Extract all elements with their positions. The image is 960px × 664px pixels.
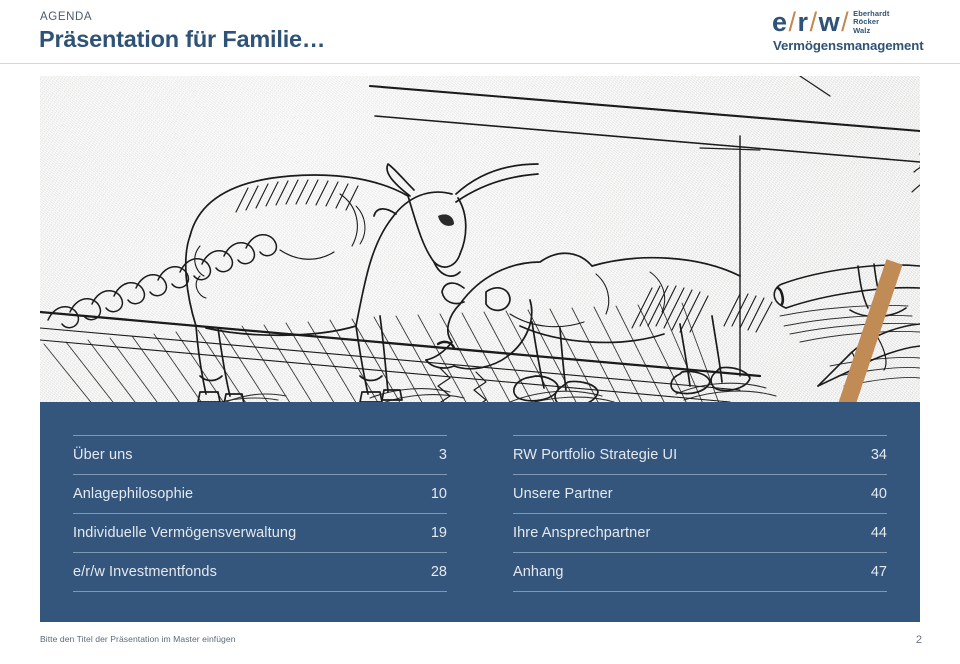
logo-letter-e: e xyxy=(772,7,788,37)
agenda-item-label: e/r/w Investmentfonds xyxy=(73,564,217,580)
agenda-item-label: Anhang xyxy=(513,564,564,580)
agenda-item-anlagephilosophie[interactable]: Anlagephilosophie 10 xyxy=(73,474,447,513)
agenda-column-left: Über uns 3 Anlagephilosophie 10 Individu… xyxy=(40,402,480,622)
agenda-item-label: Anlagephilosophie xyxy=(73,486,193,502)
footer-page-number: 2 xyxy=(916,634,922,646)
agenda-item-label: Individuelle Vermögensverwaltung xyxy=(73,525,296,541)
agenda-item-rw-portfolio-strategie-ui[interactable]: RW Portfolio Strategie UI 34 xyxy=(513,435,887,474)
agenda-column-right: RW Portfolio Strategie UI 34 Unsere Part… xyxy=(480,402,920,622)
agenda-item-label: Unsere Partner xyxy=(513,486,613,502)
slide-header: AGENDA Präsentation für Familie… e/r/w/ … xyxy=(0,0,960,64)
agenda-item-label: Ihre Ansprechpartner xyxy=(513,525,650,541)
logo-partner-names: Eberhardt Röcker Walz xyxy=(853,10,889,35)
logo-tagline: Vermögensmanagement xyxy=(773,38,924,53)
agenda-item-page: 3 xyxy=(439,447,447,463)
agenda-item-page: 28 xyxy=(431,564,447,580)
bull-and-bear-sketch-icon xyxy=(40,76,920,406)
agenda-item-label: Über uns xyxy=(73,447,133,463)
logo-name-line-3: Walz xyxy=(853,27,889,35)
sketch-illustration xyxy=(40,76,920,406)
page-title: Präsentation für Familie… xyxy=(39,26,325,53)
logo-wordmark: e/r/w/ Eberhardt Röcker Walz xyxy=(772,8,889,36)
agenda-item-page: 34 xyxy=(871,447,887,463)
brand-logo: e/r/w/ Eberhardt Röcker Walz Vermögensma… xyxy=(772,8,922,54)
agenda-item-anhang[interactable]: Anhang 47 xyxy=(513,552,887,592)
agenda-item-page: 10 xyxy=(431,486,447,502)
agenda-item-ihre-ansprechpartner[interactable]: Ihre Ansprechpartner 44 xyxy=(513,513,887,552)
agenda-item-erw-investmentfonds[interactable]: e/r/w Investmentfonds 28 xyxy=(73,552,447,592)
agenda-panel: Über uns 3 Anlagephilosophie 10 Individu… xyxy=(40,402,920,622)
footer-note: Bitte den Titel der Präsentation im Mast… xyxy=(40,634,236,644)
logo-mark-letters: e/r/w/ xyxy=(772,8,850,36)
logo-slash-1: / xyxy=(788,7,798,37)
agenda-item-page: 19 xyxy=(431,525,447,541)
header-eyebrow: AGENDA xyxy=(40,11,92,23)
logo-slash-2: / xyxy=(809,7,819,37)
agenda-item-page: 47 xyxy=(871,564,887,580)
agenda-item-page: 44 xyxy=(871,525,887,541)
agenda-item-page: 40 xyxy=(871,486,887,502)
agenda-columns: Über uns 3 Anlagephilosophie 10 Individu… xyxy=(40,402,920,622)
agenda-item-uber-uns[interactable]: Über uns 3 xyxy=(73,435,447,474)
agenda-item-unsere-partner[interactable]: Unsere Partner 40 xyxy=(513,474,887,513)
logo-letter-w: w xyxy=(819,7,841,37)
agenda-item-label: RW Portfolio Strategie UI xyxy=(513,447,677,463)
agenda-item-individuelle-vermoegensverwaltung[interactable]: Individuelle Vermögensverwaltung 19 xyxy=(73,513,447,552)
logo-letter-r: r xyxy=(798,7,809,37)
logo-slash-3: / xyxy=(840,7,850,37)
header-divider xyxy=(0,63,960,64)
